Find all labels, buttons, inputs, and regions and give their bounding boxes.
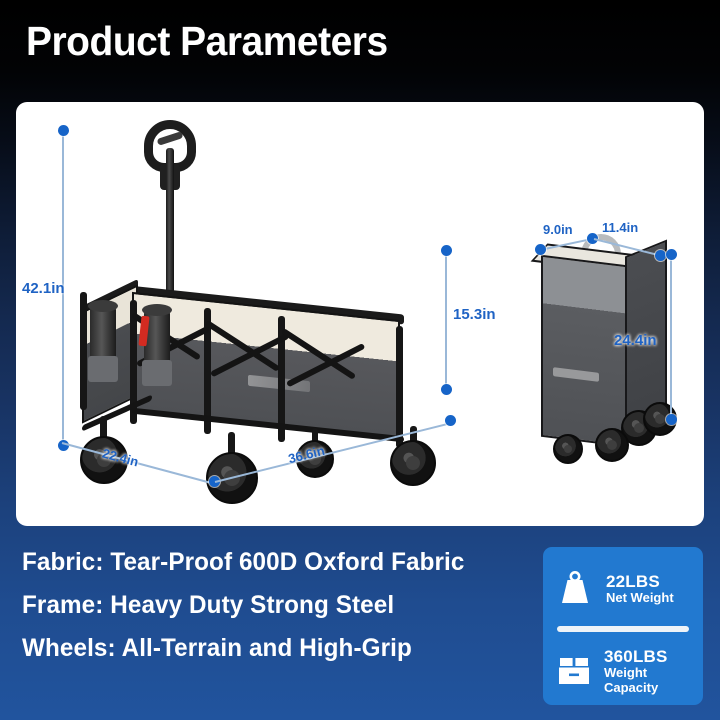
spec-value: 22LBS: [606, 572, 674, 591]
product-parameters-poster: Product Parameters: [0, 0, 720, 720]
folded-front-face: [541, 255, 627, 448]
frame-post: [396, 326, 403, 448]
feature-frame: Frame: Heavy Duty Strong Steel: [22, 591, 464, 620]
dimension-dot: [655, 250, 666, 261]
dimension-dot: [445, 415, 456, 426]
dimension-label-height: 42.1in: [22, 280, 65, 297]
cup-holder: [90, 306, 116, 362]
dimension-dot: [58, 125, 69, 136]
spec-caption: Net Weight: [606, 591, 674, 606]
feature-fabric: Fabric: Tear-Proof 600D Oxford Fabric: [22, 548, 464, 577]
dimension-dot: [441, 384, 452, 395]
box-icon: [555, 654, 593, 688]
dimension-dot: [666, 414, 677, 425]
product-photo-card: 42.1in 15.3in 22.4in 36.6in 9.0in 11.4in…: [16, 102, 704, 526]
spec-value: 360LBS: [604, 647, 691, 666]
dimension-line-folded-height: [670, 254, 672, 420]
dimension-line-bed-depth: [445, 250, 447, 390]
folded-wheel: [553, 434, 583, 464]
folded-wheel: [595, 428, 629, 462]
dimension-label-folded-width: 11.4in: [602, 220, 638, 235]
spec-text-capacity: 360LBS Weight Capacity: [604, 647, 691, 695]
dimension-dot: [666, 249, 677, 260]
dimension-dot: [441, 245, 452, 256]
wheel: [390, 440, 436, 486]
dimension-label-bed-depth: 15.3in: [453, 306, 496, 323]
spec-divider: [557, 626, 689, 632]
wagon-open-illustration: [76, 110, 476, 510]
spec-row-capacity: 360LBS Weight Capacity: [555, 643, 691, 699]
feature-wheels: Wheels: All-Terrain and High-Grip: [22, 634, 464, 663]
spec-caption: Weight Capacity: [604, 666, 691, 695]
spec-row-net-weight: 22LBS Net Weight: [555, 561, 691, 617]
dimension-label-folded-depth: 9.0in: [543, 222, 573, 237]
page-title: Product Parameters: [26, 18, 388, 65]
spec-text-net-weight: 22LBS Net Weight: [606, 572, 674, 606]
cup-holder-pocket: [142, 360, 172, 386]
weight-icon: [555, 571, 595, 607]
feature-list: Fabric: Tear-Proof 600D Oxford Fabric Fr…: [22, 548, 478, 677]
frame-post: [80, 292, 87, 410]
dimension-label-folded-height: 24.4in: [614, 332, 657, 349]
spec-card: 22LBS Net Weight 360LBS Weight Capacity: [543, 547, 703, 705]
wagon-folded-illustration: [529, 242, 679, 512]
cup-holder-pocket: [88, 356, 118, 382]
dimension-dot: [535, 244, 546, 255]
